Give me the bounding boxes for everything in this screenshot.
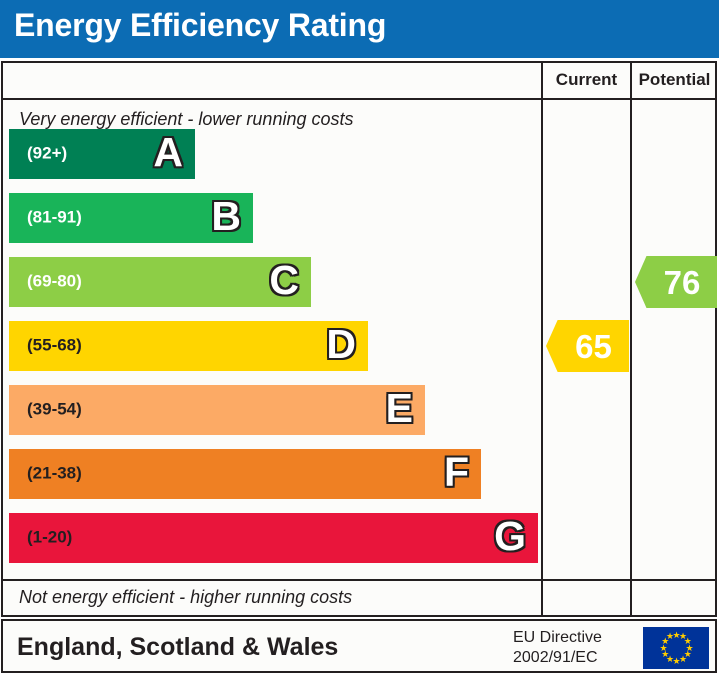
rating-band-letter-b: B: [211, 196, 241, 237]
rating-band-letter-e: E: [386, 388, 413, 429]
rating-band-range-d: (55-68): [27, 336, 82, 356]
current-column-divider: [541, 63, 543, 615]
rating-band-range-a: (92+): [27, 144, 67, 164]
potential-column-header: Potential: [632, 70, 717, 90]
chart-footer: England, Scotland & Wales EU Directive 2…: [1, 619, 717, 673]
rating-band-b: (81-91)B: [9, 193, 253, 243]
rating-value-current: 65: [563, 330, 612, 363]
rating-band-range-e: (39-54): [27, 400, 82, 420]
rating-band-f: (21-38)F: [9, 449, 481, 499]
footer-directive-line1: EU Directive: [513, 628, 602, 648]
rating-band-range-b: (81-91): [27, 208, 82, 228]
footer-directive-line2: 2002/91/EC: [513, 648, 602, 668]
bottom-caption-divider-bottom: [3, 615, 715, 617]
rating-band-c: (69-80)C: [9, 257, 311, 307]
rating-band-letter-a: A: [153, 132, 183, 173]
footer-directive-label: EU Directive 2002/91/EC: [513, 628, 602, 668]
rating-band-letter-g: G: [494, 516, 526, 557]
rating-band-range-c: (69-80): [27, 272, 82, 292]
rating-band-letter-f: F: [444, 452, 469, 493]
chart-title-bar: Energy Efficiency Rating: [0, 0, 719, 58]
rating-band-letter-c: C: [269, 260, 299, 301]
rating-band-range-g: (1-20): [27, 528, 72, 548]
rating-marker-potential: 76: [635, 256, 717, 308]
rating-band-letter-d: D: [326, 324, 356, 365]
rating-band-a: (92+)A: [9, 129, 195, 179]
rating-band-g: (1-20)G: [9, 513, 538, 563]
energy-efficiency-rating-chart: Energy Efficiency Rating Current Potenti…: [0, 0, 719, 675]
chart-body: Current Potential Very energy efficient …: [1, 61, 717, 617]
rating-band-range-f: (21-38): [27, 464, 82, 484]
rating-marker-current: 65: [546, 320, 629, 372]
current-column-header: Current: [543, 70, 630, 90]
rating-band-e: (39-54)E: [9, 385, 425, 435]
eu-flag-star: ★: [666, 633, 673, 640]
rating-band-d: (55-68)D: [9, 321, 368, 371]
rating-bands: (92+)A(81-91)B(69-80)C(55-68)D(39-54)E(2…: [3, 63, 539, 615]
eu-flag-icon: ★★★★★★★★★★★★: [643, 627, 709, 669]
rating-value-potential: 76: [652, 266, 701, 299]
page-title: Energy Efficiency Rating: [14, 7, 386, 44]
potential-column-divider: [630, 63, 632, 615]
footer-region-label: England, Scotland & Wales: [17, 633, 338, 662]
